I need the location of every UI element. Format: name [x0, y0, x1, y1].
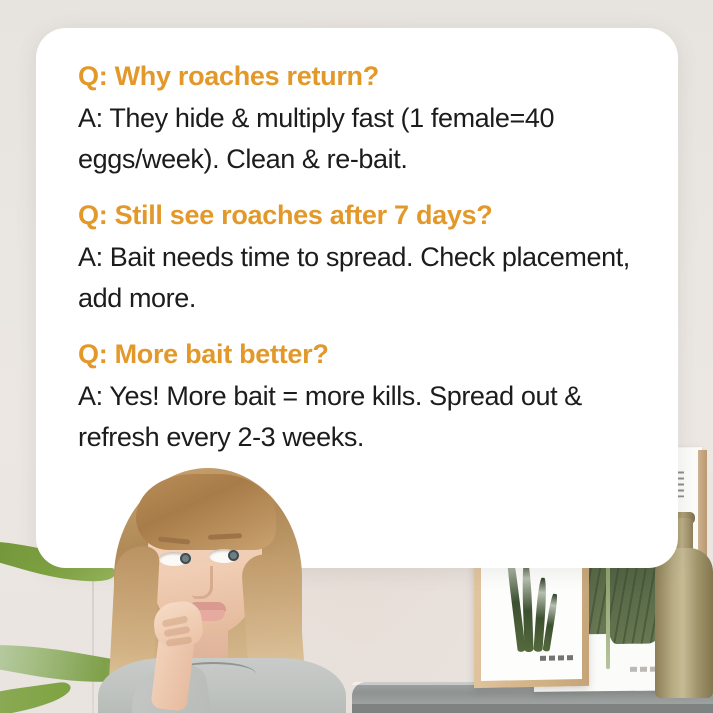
- nose: [192, 566, 213, 599]
- faq-list: Q: Why roaches return? A: They hide & mu…: [78, 56, 646, 458]
- faq-item: Q: Why roaches return? A: They hide & mu…: [78, 56, 646, 180]
- faq-question: Q: Still see roaches after 7 days?: [78, 195, 646, 235]
- faq-item: Q: More bait better? A: Yes! More bait =…: [78, 334, 646, 458]
- snake-plant-blade: [521, 560, 533, 652]
- faq-promo-image: Q: Why roaches return? A: They hide & mu…: [0, 0, 713, 713]
- pupil-right: [228, 550, 239, 561]
- faq-item: Q: Still see roaches after 7 days? A: Ba…: [78, 195, 646, 319]
- olive-bottle-vase: [655, 548, 713, 698]
- shelf-front-edge: [352, 704, 713, 713]
- faq-answer: A: They hide & multiply fast (1 female=4…: [78, 98, 638, 180]
- faq-answer: A: Yes! More bait = more kills. Spread o…: [78, 376, 638, 458]
- print-caption-line: [540, 655, 574, 661]
- faq-question: Q: Why roaches return?: [78, 56, 646, 96]
- faq-answer: A: Bait needs time to spread. Check plac…: [78, 237, 638, 319]
- faq-question: Q: More bait better?: [78, 334, 646, 374]
- pupil-left: [180, 553, 191, 564]
- hair-front: [136, 474, 276, 550]
- woman-thinking: [96, 462, 356, 713]
